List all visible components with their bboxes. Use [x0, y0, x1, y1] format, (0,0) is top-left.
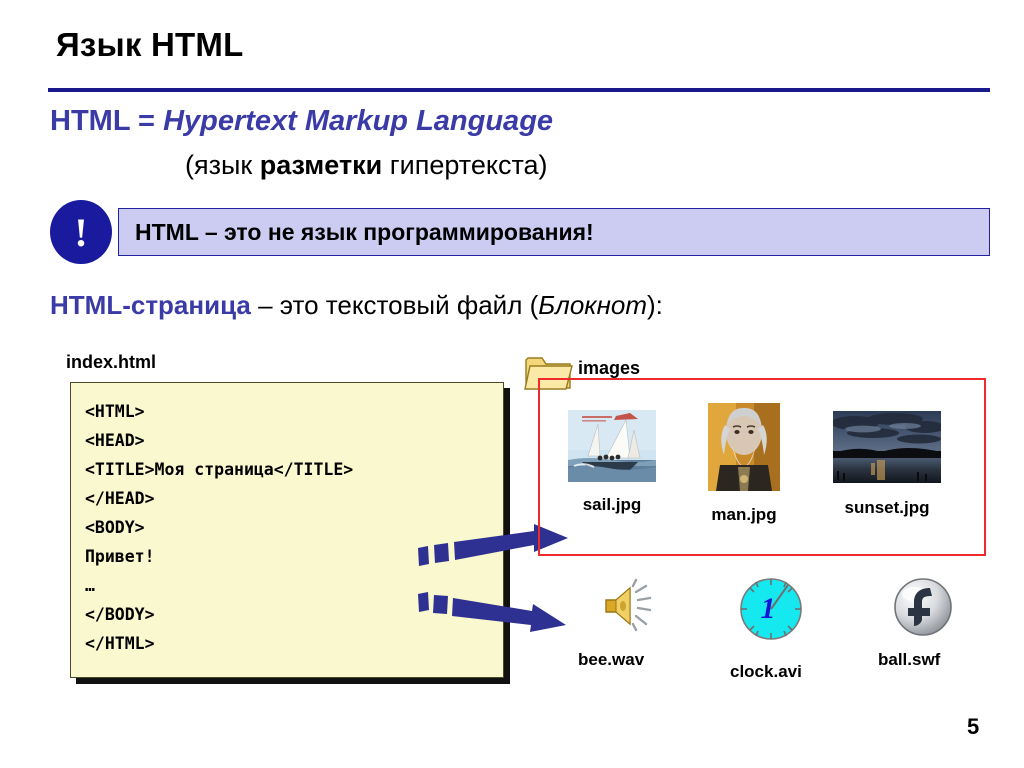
- media-caption-bee: bee.wav: [578, 650, 644, 670]
- svg-text:1: 1: [761, 592, 776, 625]
- thumbnail-sunset: [833, 411, 941, 488]
- thumbnail-caption-sunset: sunset.jpg: [830, 498, 944, 518]
- title-divider: [48, 88, 990, 92]
- speaker-icon: [602, 578, 664, 639]
- translation-bold: разметки: [260, 150, 383, 180]
- media-caption-ball: ball.swf: [878, 650, 940, 670]
- clock-icon: 1: [738, 576, 804, 647]
- subheading-accent: HTML-страница: [50, 290, 251, 320]
- thumbnail-caption-man: man.jpg: [700, 505, 788, 525]
- html-definition-line: HTML = Hypertext Markup Language: [50, 105, 553, 138]
- thumbnail-sail: [568, 410, 656, 487]
- flash-ball-icon: [892, 576, 954, 643]
- translation-prefix: (язык: [185, 150, 260, 180]
- subheading-middle: – это текстовый файл (: [251, 290, 538, 320]
- folder-label: images: [578, 358, 640, 379]
- callout-text: HTML – это не язык программирования!: [135, 219, 594, 246]
- arrow-to-media-files: [418, 584, 578, 645]
- thumbnail-man: [708, 403, 780, 496]
- page-number: 5: [967, 714, 979, 740]
- subheading-italic: Блокнот: [538, 290, 647, 320]
- html-definition-translation: (язык разметки гипертекста): [185, 150, 548, 181]
- code-file-name: index.html: [66, 352, 156, 373]
- subheading-tail: ):: [647, 290, 663, 320]
- definition-rhs: Hypertext Markup Language: [163, 105, 553, 137]
- page-title: Язык HTML: [56, 26, 243, 64]
- definition-lhs: HTML =: [50, 105, 163, 137]
- exclamation-mark: !: [50, 200, 112, 264]
- subheading: HTML-страница – это текстовый файл (Блок…: [50, 290, 663, 321]
- media-caption-clock: clock.avi: [730, 662, 802, 682]
- translation-suffix: гипертекста): [382, 150, 547, 180]
- thumbnail-caption-sail: sail.jpg: [568, 495, 656, 515]
